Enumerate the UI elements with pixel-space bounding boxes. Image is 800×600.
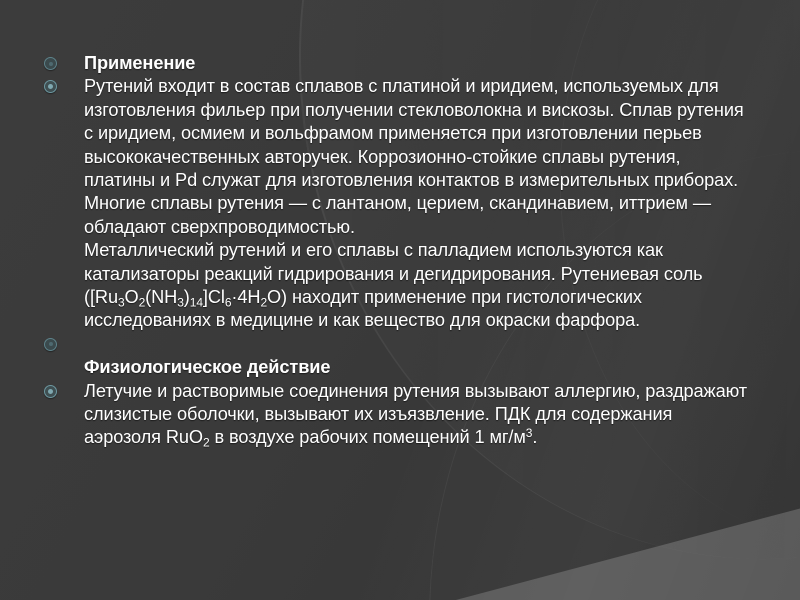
paragraph-toxicity-text: Летучие и растворимые соединения рутения… xyxy=(84,381,747,448)
slide-content-body: Применение Рутений входит в состав сплав… xyxy=(36,52,748,450)
heading-fiziologicheskoe: Физиологическое действие xyxy=(36,356,748,379)
paragraph-toxicity: Летучие и растворимые соединения рутения… xyxy=(36,380,748,450)
spacer-row xyxy=(36,333,748,356)
ring-bullet-icon xyxy=(44,385,57,398)
heading-fiziologicheskoe-label: Физиологическое действие xyxy=(84,357,330,377)
heading-primenenie: Применение xyxy=(36,52,748,75)
ring-bullet-icon xyxy=(44,338,57,351)
paragraph-catalysts: Металлический рутений и его сплавы с пал… xyxy=(36,239,748,333)
heading-primenenie-label: Применение xyxy=(84,53,195,73)
presentation-slide: Применение Рутений входит в состав сплав… xyxy=(0,0,800,600)
paragraph-alloys: Рутений входит в состав сплавов с платин… xyxy=(36,75,748,239)
paragraph-alloys-text: Рутений входит в состав сплавов с платин… xyxy=(84,76,744,236)
paragraph-catalysts-text: Металлический рутений и его сплавы с пал… xyxy=(84,240,703,330)
ring-bullet-icon xyxy=(44,80,57,93)
ring-bullet-icon xyxy=(44,57,57,70)
